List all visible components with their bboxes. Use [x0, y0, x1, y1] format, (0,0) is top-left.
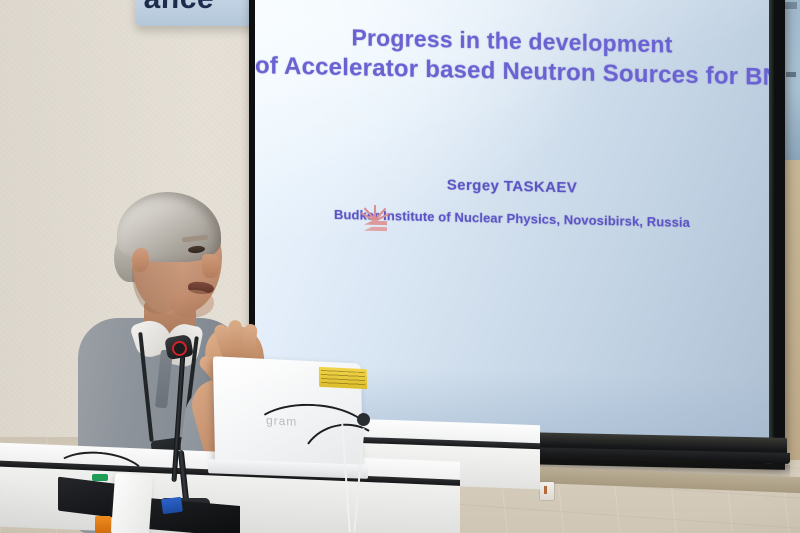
budker-institute-logo-icon — [360, 205, 390, 240]
speaker-nose — [202, 254, 220, 278]
green-connector — [92, 474, 108, 481]
right-edge-banner — [783, 0, 800, 160]
slide-affiliation: Budker Institute of Nuclear Physics, Nov… — [255, 205, 769, 232]
screenshot-root: ance Progress in the development of Acce… — [0, 0, 800, 533]
speaker-hair — [117, 192, 221, 262]
room-banner: ance — [135, 0, 265, 26]
power-adapter — [111, 473, 153, 533]
cable-connector-node — [357, 413, 370, 426]
laptop-sticker-text-lines — [321, 370, 365, 386]
laptop-asset-sticker — [319, 367, 367, 389]
slide-author: Sergey TASKAEV — [255, 172, 769, 201]
speaker-chin — [170, 290, 214, 318]
blue-connector — [161, 497, 183, 515]
wall-power-outlet — [540, 482, 554, 500]
right-banner-mark-top — [785, 2, 797, 9]
room-banner-text: ance — [143, 0, 214, 16]
orange-connector — [95, 516, 111, 533]
speaker-ear — [132, 248, 149, 272]
microphone-status-ring-icon — [172, 341, 187, 356]
wall-outlet-slot — [544, 486, 547, 494]
right-banner-mark — [786, 72, 796, 77]
